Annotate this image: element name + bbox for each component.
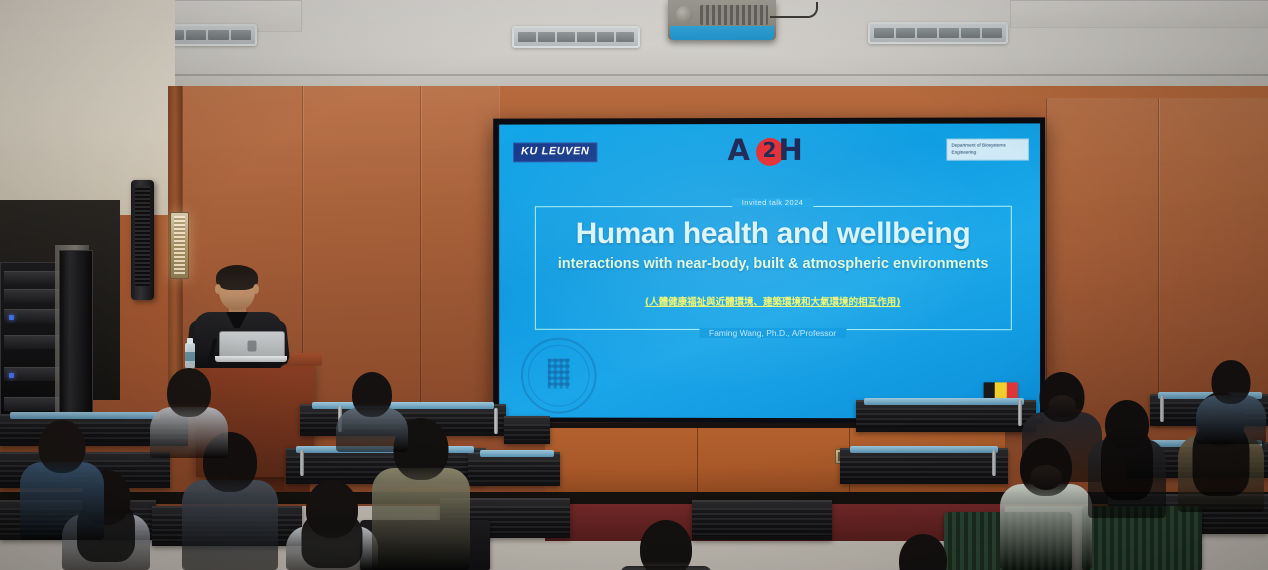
invited-talk-badge: Invited talk 2024 [732,198,813,207]
projector-vent [700,5,768,25]
person-torso [372,468,470,570]
seat-desktop [10,412,160,419]
person-torso [182,480,278,570]
seat-row [504,416,550,444]
attendee-mid-left [20,420,104,540]
person-head [640,520,692,570]
ku-leuven-logo: KU LEUVEN [513,142,597,162]
person-long-hair [302,512,363,568]
person-head [39,420,86,473]
university-seal-watermark-icon [521,338,597,414]
projection-screen: KU LEUVEN A 2 H Department of Biosystems… [493,117,1045,423]
slide-surface: KU LEUVEN A 2 H Department of Biosystems… [499,123,1040,418]
person-head [352,372,392,417]
a2h-letter-a: A [728,136,749,165]
seat-armrest [494,408,498,434]
attendee-bottom-right [880,534,966,570]
ceiling-projector [668,0,776,40]
presenter-laptop [215,331,287,361]
attendee-far-right-mask [1088,400,1166,518]
seat-armrest [300,450,304,476]
seat-row [468,452,560,486]
lecture-hall-photo: KU LEUVEN A 2 H Department of Biosystems… [0,0,1268,570]
attendee-front-left-3 [286,480,378,570]
seat-row [692,500,832,540]
slide-subtitle-chinese: (人體健康福祉與近體環境、建築環境和大氣環境的相互作用) [536,294,1011,308]
projector-lens [676,6,693,23]
seat-armrest [992,450,996,476]
person-head [167,368,211,417]
person-torso [20,462,104,540]
attendee-back-left [336,372,408,452]
person-torso [1000,484,1092,570]
wall-sconce-light [170,212,189,279]
ceiling-vent-right [868,22,1008,44]
seat-desktop [480,450,554,457]
projector-light-bar [670,26,774,40]
person-hair-bun [1048,395,1076,417]
projector-cable [770,2,818,18]
a2h-letter-h: H [778,136,801,165]
slide-speaker-name: Faming Wang, Ph.D., A/Professor [699,328,846,338]
slide-subtitle: interactions with near-body, built & atm… [550,256,997,272]
seat-desktop [850,446,998,453]
slide-title-box: Invited talk 2024 Human health and wellb… [535,206,1012,330]
slide-title: Human health and wellbeing [536,219,1011,249]
person-hair-bun [1030,465,1062,490]
person-head [899,534,947,570]
water-bottle [185,343,195,369]
person-head [1212,360,1251,404]
attendee-right-2 [1000,438,1092,570]
a2h-superscript-2: 2 [763,140,777,160]
attendee-bottom-center [620,520,712,570]
attendee-right-4 [1196,360,1266,444]
department-label: Department of Biosystems Engineering [946,138,1029,160]
seat-desktop [864,398,1024,405]
ceiling-vent-center [512,26,640,48]
a2h-logo: A 2 H [723,136,815,170]
seat-row [840,448,1008,484]
wall-speaker-icon [131,180,154,300]
person-long-hair [1101,427,1153,500]
attendee-back-glasses [150,368,228,458]
